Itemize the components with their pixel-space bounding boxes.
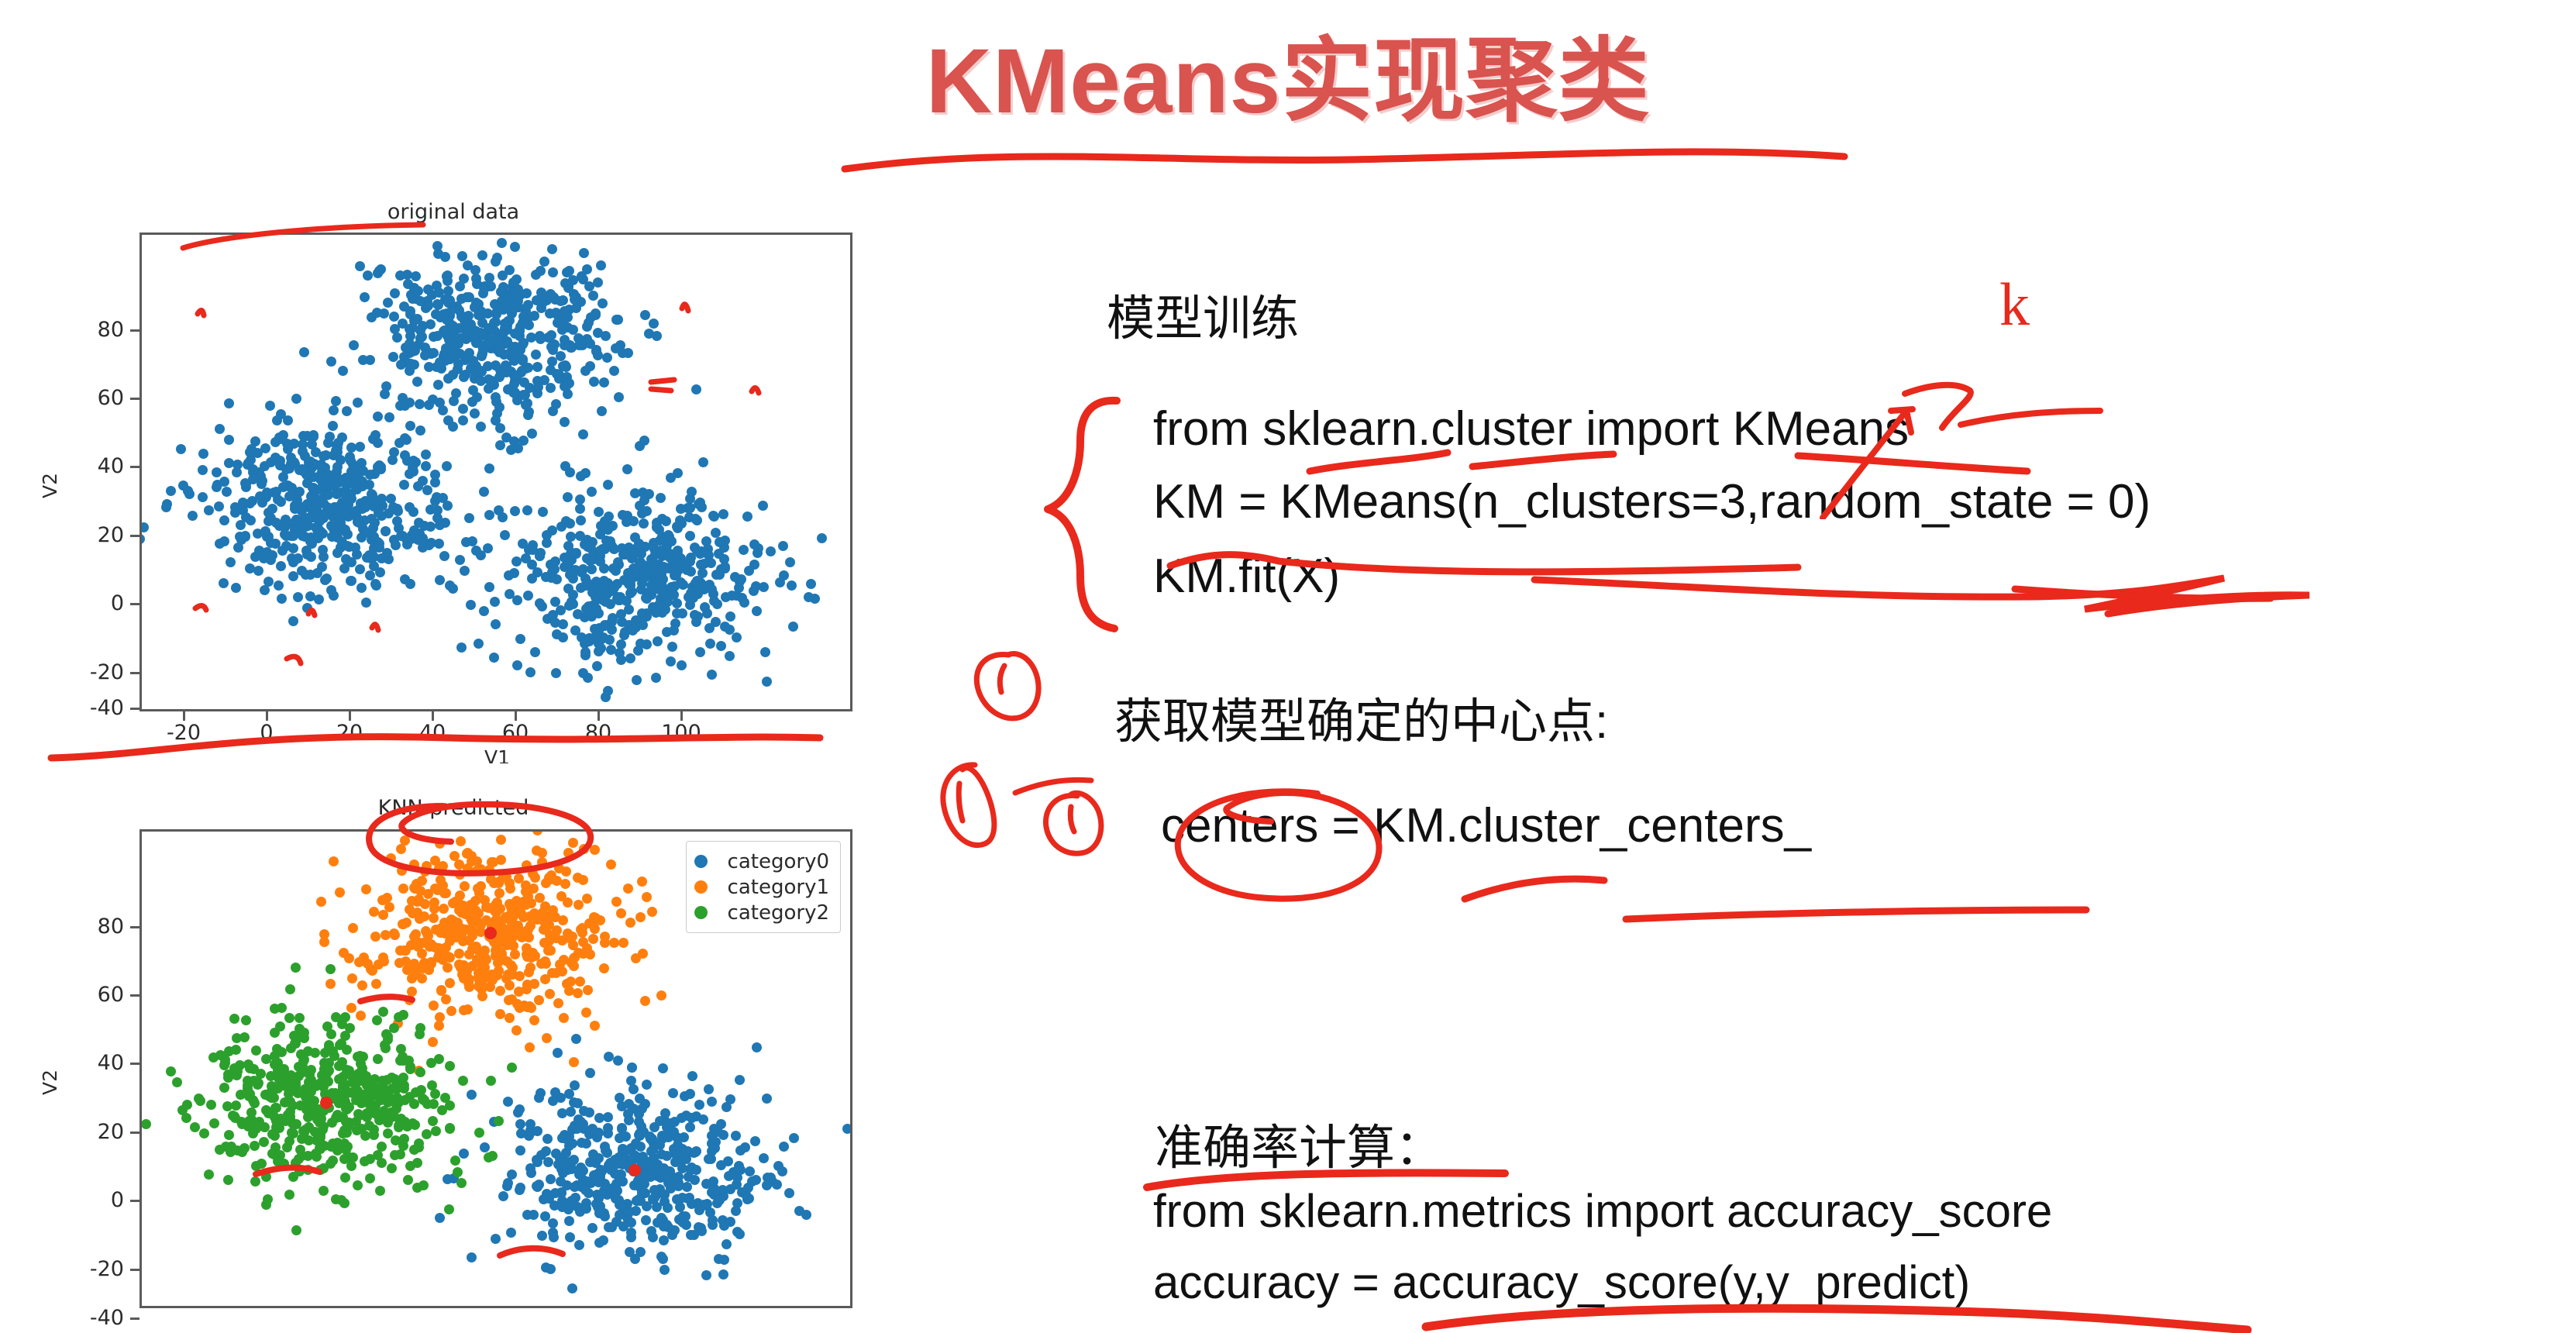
plot-area-knn-predicted: category0 category1 category2	[139, 829, 852, 1308]
scatter-point	[142, 534, 145, 544]
scatter-point	[443, 286, 453, 296]
scatter-point	[531, 270, 541, 280]
scatter-point	[680, 1091, 690, 1101]
scatter-point	[547, 525, 557, 536]
scatter-point	[288, 531, 298, 541]
scatter-point	[345, 1023, 355, 1033]
scatter-point	[491, 619, 501, 629]
scatter-point	[531, 350, 541, 360]
scatter-point	[479, 606, 489, 616]
scatter-point	[611, 1179, 622, 1189]
scatter-point	[370, 932, 381, 942]
scatter-point	[198, 465, 208, 475]
scatter-point	[439, 551, 449, 561]
scatter-point	[649, 1185, 659, 1195]
scatter-point	[640, 310, 650, 320]
scatter-point	[481, 902, 491, 912]
scatter-point	[243, 1083, 253, 1094]
scatter-point	[245, 563, 255, 573]
legend-item: category2	[694, 900, 829, 925]
scatter-point	[528, 545, 538, 555]
scatter-point	[314, 594, 324, 604]
ytick-label: -20	[53, 660, 124, 684]
scatter-point	[514, 987, 524, 997]
scatter-point	[591, 913, 601, 923]
scatter-point	[484, 510, 494, 520]
ytick-mark	[130, 1269, 139, 1271]
scatter-point	[172, 1077, 182, 1087]
scatter-point	[589, 377, 599, 387]
scatter-point	[719, 1255, 729, 1265]
scatter-point	[445, 1061, 455, 1071]
scatter-point	[224, 435, 234, 445]
scatter-point	[506, 1228, 516, 1238]
scatter-point	[575, 504, 585, 514]
scatter-point	[512, 660, 522, 670]
scatter-point	[204, 1169, 214, 1180]
scatter-point	[318, 1125, 328, 1135]
scatter-point	[285, 1097, 295, 1107]
scatter-point	[603, 1112, 613, 1122]
scatter-point	[353, 398, 363, 408]
scatter-point	[425, 319, 436, 329]
scatter-point	[339, 563, 350, 573]
scatter-point	[445, 978, 455, 988]
scatter-point	[476, 550, 486, 560]
scatter-point	[608, 543, 618, 553]
scatter-point	[711, 528, 721, 538]
scatter-point	[467, 1090, 477, 1100]
scatter-point	[212, 467, 222, 477]
scatter-point	[623, 883, 633, 894]
scatter-point	[498, 1191, 508, 1201]
scatter-point	[635, 1142, 646, 1152]
scatter-point	[215, 1145, 225, 1155]
scatter-point	[496, 835, 506, 845]
scatter-point	[558, 1168, 568, 1178]
scatter-point	[412, 377, 422, 387]
xtick-mark	[515, 711, 517, 721]
scatter-point	[590, 624, 600, 634]
scatter-point	[537, 857, 547, 867]
scatter-point	[758, 501, 768, 511]
ytick-label: 0	[62, 591, 124, 615]
scatter-point	[613, 1056, 623, 1066]
scatter-point	[596, 589, 606, 599]
scatter-point	[496, 347, 506, 357]
scatter-point	[615, 648, 625, 658]
scatter-point	[546, 560, 556, 570]
scatter-point	[401, 343, 411, 353]
chart-knn-predicted: KNN predicted category0 category1 catego…	[31, 763, 876, 1333]
heading-accuracy: 准确率计算：	[1155, 1108, 1443, 1178]
scatter-point	[564, 1216, 574, 1226]
scatter-point	[569, 1057, 579, 1067]
scatter-point	[182, 1100, 192, 1110]
scatter-point	[453, 1167, 463, 1177]
scatter-point	[641, 593, 651, 603]
scatter-point	[321, 450, 331, 460]
scatter-point	[291, 1076, 301, 1087]
scatter-point	[599, 963, 609, 973]
scatter-point	[817, 533, 827, 543]
scatter-point	[563, 558, 573, 568]
scatter-point	[381, 930, 391, 940]
scatter-point	[546, 365, 556, 375]
scatter-point	[670, 1157, 680, 1167]
scatter-point	[280, 522, 290, 532]
scatter-point	[532, 1181, 542, 1191]
scatter-point	[325, 964, 336, 974]
scatter-point	[646, 1172, 656, 1182]
scatter-point	[489, 878, 499, 888]
scatter-point	[421, 449, 431, 460]
scatter-point	[484, 463, 494, 474]
scatter-point	[414, 1138, 424, 1149]
scatter-point	[557, 966, 567, 976]
ytick-mark	[130, 672, 139, 674]
scatter-point	[229, 1063, 239, 1073]
scatter-point	[601, 331, 611, 341]
scatter-point	[585, 1068, 595, 1078]
scatter-point	[508, 277, 518, 288]
scatter-point	[377, 1158, 387, 1168]
xtick-mark	[432, 711, 434, 721]
scatter-point	[275, 1150, 285, 1160]
scatter-point	[602, 353, 612, 363]
scatter-point	[510, 506, 520, 516]
scatter-point	[673, 565, 684, 575]
scatter-point	[432, 331, 443, 341]
scatter-point	[233, 542, 243, 553]
scatter-point	[468, 356, 478, 366]
scatter-point	[734, 583, 744, 593]
scatter-point	[285, 984, 295, 994]
scatter-point	[515, 634, 525, 644]
scatter-point	[673, 468, 683, 478]
scatter-point	[701, 1270, 711, 1280]
scatter-point	[430, 883, 440, 894]
scatter-point	[603, 686, 613, 696]
scatter-point	[453, 359, 463, 369]
scatter-point	[625, 580, 635, 591]
scatter-point	[623, 1206, 633, 1216]
scatter-point	[708, 1215, 718, 1225]
ytick-mark	[130, 1317, 139, 1320]
scatter-point	[162, 499, 172, 509]
ytick-label: 0	[62, 1188, 124, 1212]
scatter-point	[789, 1133, 799, 1143]
scatter-point	[415, 425, 425, 436]
scatter-point	[656, 1149, 666, 1159]
scatter-point	[445, 1123, 455, 1133]
scatter-point	[443, 963, 453, 973]
scatter-point	[305, 456, 315, 467]
scatter-point	[525, 1119, 536, 1129]
scatter-point	[340, 1173, 350, 1183]
scatter-point	[779, 570, 789, 580]
scatter-point	[479, 487, 489, 497]
scatter-point	[361, 598, 371, 608]
scatter-point	[735, 1229, 745, 1239]
scatter-point	[581, 1204, 591, 1214]
scatter-point	[441, 343, 451, 353]
scatter-point	[571, 548, 581, 558]
scatter-point	[219, 515, 229, 525]
scatter-point	[505, 589, 515, 599]
scatter-point	[429, 348, 439, 358]
scatter-point	[628, 625, 638, 635]
scatter-point	[466, 600, 476, 610]
scatter-point	[441, 994, 451, 1004]
scatter-point	[510, 949, 520, 959]
scatter-point	[395, 1149, 405, 1159]
scatter-point	[626, 1076, 636, 1086]
scatter-point	[559, 1013, 569, 1023]
scatter-point	[707, 1138, 717, 1149]
scatter-point	[448, 584, 458, 594]
scatter-point	[348, 1152, 358, 1162]
scatter-point	[642, 1080, 652, 1090]
scatter-point	[356, 1011, 366, 1021]
scatter-point	[316, 897, 326, 907]
scatter-point	[467, 1252, 477, 1262]
scatter-point	[348, 923, 358, 933]
ytick-label: 80	[62, 914, 124, 939]
scatter-point	[335, 887, 345, 897]
scatter-point	[687, 1113, 697, 1123]
scatter-point	[291, 394, 301, 404]
scatter-point	[495, 986, 505, 996]
scatter-point	[591, 345, 601, 355]
scatter-point	[523, 591, 533, 601]
scatter-point	[483, 339, 493, 350]
scatter-point	[303, 521, 313, 531]
scatter-point	[556, 891, 567, 901]
scatter-point	[739, 545, 749, 555]
scatter-point	[596, 260, 606, 270]
scatter-point	[778, 541, 788, 551]
scatter-point	[566, 343, 576, 353]
scatter-point	[590, 845, 600, 855]
scatter-point	[542, 295, 552, 305]
scatter-point	[785, 557, 795, 567]
scatter-point	[246, 1114, 257, 1125]
scatter-point	[353, 1109, 363, 1119]
scatter-point	[328, 1156, 338, 1166]
ytick-label: -40	[53, 1306, 124, 1330]
scatter-point	[584, 318, 594, 328]
scatter-point	[371, 979, 381, 989]
scatter-point	[574, 1240, 584, 1250]
scatter-point	[417, 949, 427, 959]
scatter-point	[503, 970, 513, 980]
ytick-label: -40	[53, 696, 124, 720]
scatter-point	[685, 531, 695, 541]
scatter-point	[223, 1175, 233, 1185]
scatter-point	[583, 985, 593, 995]
scatter-point	[398, 1010, 408, 1020]
scatter-point	[505, 265, 515, 275]
scatter-point	[413, 481, 423, 491]
scatter-point	[635, 1094, 645, 1104]
scatter-point	[653, 636, 663, 646]
scatter-point	[413, 286, 423, 296]
scatter-point	[617, 1101, 627, 1111]
scatter-point	[511, 556, 522, 567]
scatter-point	[524, 1131, 534, 1141]
scatter-point	[525, 1042, 535, 1052]
scatter-point	[759, 1153, 769, 1163]
scatter-point	[694, 1100, 704, 1110]
scatter-point	[557, 1202, 567, 1212]
scatter-point	[568, 599, 578, 609]
scatter-point	[579, 844, 589, 854]
scatter-point	[494, 966, 504, 976]
scatter-point	[277, 1003, 287, 1013]
scatter-point	[407, 896, 417, 906]
scatter-point	[426, 538, 436, 548]
scatter-point	[676, 504, 686, 514]
scatter-point	[361, 884, 371, 894]
scatter-point	[551, 668, 561, 678]
page-title: KMeans实现聚类	[0, 6, 2576, 139]
scatter-point	[521, 400, 531, 410]
scatter-point	[460, 881, 470, 891]
scatter-point	[563, 492, 573, 502]
scatter-point	[359, 1090, 369, 1100]
scatter-point	[292, 495, 302, 505]
scatter-point	[400, 835, 410, 846]
scatter-point	[214, 501, 224, 511]
scatter-point	[483, 361, 493, 371]
scatter-point	[432, 299, 443, 309]
ytick-label: 60	[62, 983, 124, 1007]
scatter-point	[627, 1063, 637, 1073]
scatter-point	[525, 911, 535, 921]
scatter-point	[277, 594, 287, 604]
scatter-point	[691, 617, 701, 627]
scatter-point	[684, 592, 694, 602]
scatter-point	[390, 288, 400, 298]
scatter-point	[315, 1144, 325, 1154]
scatter-point	[497, 238, 507, 248]
scatter-point	[630, 488, 640, 498]
scatter-point	[318, 480, 328, 491]
scatter-point	[219, 578, 229, 588]
scatter-point	[563, 848, 573, 858]
scatter-point	[515, 971, 525, 981]
ytick-label: 40	[62, 1051, 124, 1075]
scatter-point	[578, 429, 588, 439]
scatter-point	[597, 406, 607, 416]
scatter-point	[506, 960, 516, 970]
scatter-point	[363, 270, 373, 281]
scatter-point	[219, 1083, 229, 1093]
scatter-point	[655, 1140, 665, 1150]
scatter-point	[716, 641, 726, 651]
ytick-mark	[130, 1063, 139, 1065]
scatter-point	[762, 677, 772, 687]
scatter-point	[625, 918, 635, 928]
scatter-point	[732, 1173, 742, 1183]
scatter-point	[415, 333, 425, 343]
scatter-point	[534, 1093, 544, 1103]
xtick-mark	[598, 711, 600, 721]
scatter-point	[618, 938, 629, 948]
xtick-mark	[183, 711, 185, 721]
scatter-point	[599, 377, 609, 387]
scatter-point	[373, 1054, 383, 1064]
scatter-point	[455, 281, 465, 291]
scatter-point	[358, 355, 368, 365]
scatter-point	[250, 1176, 260, 1187]
scatter-point	[721, 1239, 732, 1249]
scatter-point	[401, 918, 412, 928]
scatter-point	[270, 1028, 280, 1038]
scatter-point	[552, 574, 562, 584]
scatter-point	[434, 863, 444, 873]
scatter-point	[659, 1265, 670, 1275]
scatter-point	[663, 1203, 673, 1213]
scatter-point	[353, 1052, 363, 1062]
scatter-point	[405, 579, 415, 589]
legend-item: category1	[694, 874, 829, 900]
scatter-point	[777, 1166, 787, 1176]
scatter-point	[806, 579, 816, 589]
scatter-point	[590, 1021, 600, 1031]
scatter-point	[582, 264, 592, 274]
scatter-point	[274, 580, 284, 591]
scatter-point	[626, 1228, 636, 1238]
scatter-point	[645, 1131, 655, 1142]
scatter-point	[360, 292, 370, 302]
scatter-point	[224, 398, 234, 408]
scatter-point	[656, 1252, 666, 1262]
legend-swatch-category1	[694, 880, 708, 894]
code-line-import-kmeans: from sklearn.cluster import KMeans	[1153, 401, 1909, 456]
scatter-point	[539, 257, 549, 267]
scatter-point	[615, 1133, 625, 1143]
scatter-point	[405, 421, 415, 431]
scatter-point	[360, 502, 370, 512]
chart-original-data: original data 80 60 40 20 0 -20 -40 -20 …	[31, 200, 876, 766]
heading-model-training: 模型训练	[1107, 279, 1299, 349]
scatter-point	[276, 409, 286, 419]
scatter-point	[345, 452, 355, 462]
scatter-point	[448, 321, 458, 331]
scatter-point	[677, 518, 687, 529]
scatter-point	[479, 308, 489, 319]
scatter-point	[742, 511, 752, 522]
scatter-point	[518, 390, 529, 400]
scatter-point	[721, 1102, 732, 1112]
scatter-point	[346, 576, 356, 586]
scatter-point	[642, 892, 652, 902]
scatter-point	[239, 1032, 250, 1042]
scatter-point	[331, 1113, 341, 1123]
scatter-point	[614, 1195, 624, 1205]
ytick-mark	[130, 708, 139, 710]
scatter-point	[718, 1269, 728, 1280]
scatter-point	[325, 979, 336, 989]
scatter-point	[288, 616, 298, 626]
scatter-point	[406, 324, 416, 334]
scatter-point	[372, 308, 382, 318]
scatter-point	[511, 1025, 522, 1035]
scatter-point	[388, 352, 398, 362]
scatter-point	[542, 1134, 553, 1144]
